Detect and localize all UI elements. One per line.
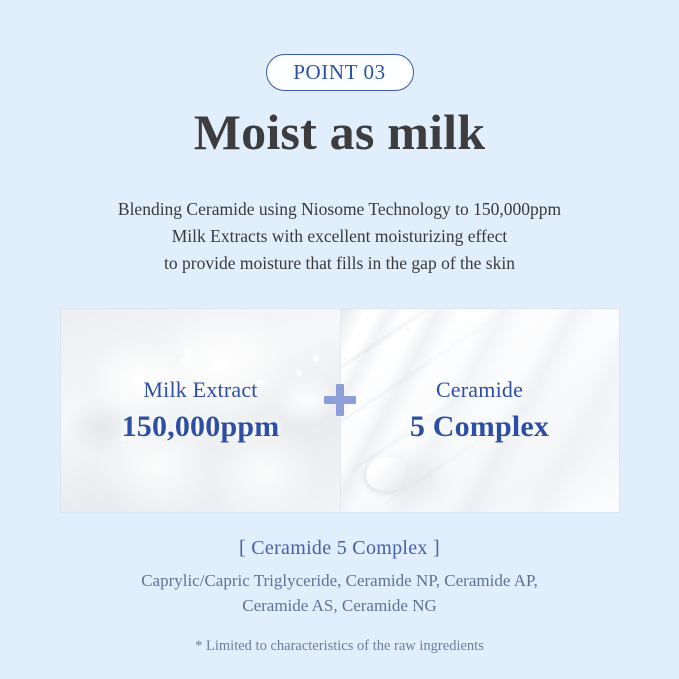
complex-title: [ Ceramide 5 Complex ]: [0, 537, 679, 560]
ingredients-list: Caprylic/Capric Triglyceride, Ceramide N…: [0, 568, 679, 618]
ingredients-line-2: Ceramide AS, Ceramide NG: [0, 593, 679, 618]
point-badge-label: POINT 03: [293, 62, 386, 83]
milk-extract-caption: Milk Extract 150,000ppm: [61, 309, 340, 512]
ceramide-title: Ceramide: [436, 378, 523, 402]
description-line-3: to provide moisture that fills in the ga…: [0, 250, 679, 277]
description-line-1: Blending Ceramide using Niosome Technolo…: [0, 196, 679, 223]
product-detail-page: POINT 03 Moist as milk Blending Ceramide…: [0, 0, 679, 679]
ceramide-caption: Ceramide 5 Complex: [340, 309, 619, 512]
description-line-2: Milk Extracts with excellent moisturizin…: [0, 223, 679, 250]
milk-extract-title: Milk Extract: [143, 378, 257, 402]
milk-extract-panel: Milk Extract 150,000ppm: [61, 309, 340, 512]
page-title: Moist as milk: [0, 104, 679, 162]
plus-icon: [320, 380, 360, 420]
milk-extract-value: 150,000ppm: [122, 410, 280, 443]
point-badge: POINT 03: [266, 54, 414, 91]
ceramide-panel: Ceramide 5 Complex: [340, 309, 619, 512]
point-badge-row: POINT 03: [0, 54, 679, 91]
ceramide-value: 5 Complex: [410, 410, 549, 443]
ingredients-line-1: Caprylic/Capric Triglyceride, Ceramide N…: [0, 568, 679, 593]
description-block: Blending Ceramide using Niosome Technolo…: [0, 196, 679, 277]
footnote: * Limited to characteristics of the raw …: [0, 638, 679, 655]
